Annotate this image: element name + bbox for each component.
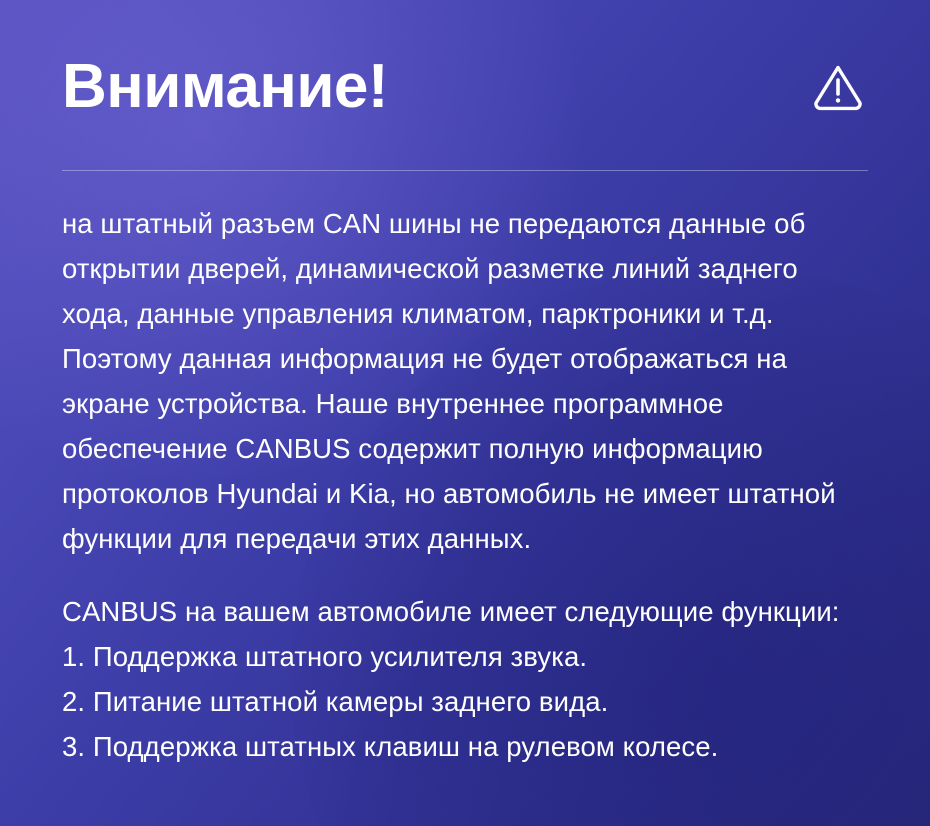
paragraph-line: обеспечение CANBUS содержит полную инфор… (62, 426, 868, 471)
header-divider (62, 170, 868, 171)
warning-triangle-icon (812, 61, 864, 113)
paragraph-line: хода, данные управления климатом, парктр… (62, 291, 868, 336)
warning-banner: Внимание! на штатный разъем CAN шины не … (0, 0, 930, 826)
list-item: 1. Поддержка штатного усилителя звука. (62, 634, 868, 679)
banner-header: Внимание! (62, 0, 868, 170)
paragraph-line: открытии дверей, динамической разметке л… (62, 246, 868, 291)
paragraph-line: протоколов Hyundai и Kia, но автомобиль … (62, 471, 868, 516)
functions-intro: CANBUS на вашем автомобиле имеет следующ… (62, 589, 868, 634)
notice-paragraph: на штатный разъем CAN шины не передаются… (62, 201, 868, 561)
paragraph-line: экране устройства. Наше внутреннее прогр… (62, 381, 868, 426)
list-item: 3. Поддержка штатных клавиш на рулевом к… (62, 724, 868, 769)
paragraph-line: функции для передачи этих данных. (62, 516, 868, 561)
list-item: 2. Питание штатной камеры заднего вида. (62, 679, 868, 724)
functions-list: 1. Поддержка штатного усилителя звука. 2… (62, 634, 868, 769)
section-spacer (62, 561, 868, 589)
paragraph-line: Поэтому данная информация не будет отобр… (62, 336, 868, 381)
banner-content: Внимание! на штатный разъем CAN шины не … (0, 0, 930, 769)
paragraph-line: на штатный разъем CAN шины не передаются… (62, 201, 868, 246)
page-title: Внимание! (62, 56, 388, 118)
